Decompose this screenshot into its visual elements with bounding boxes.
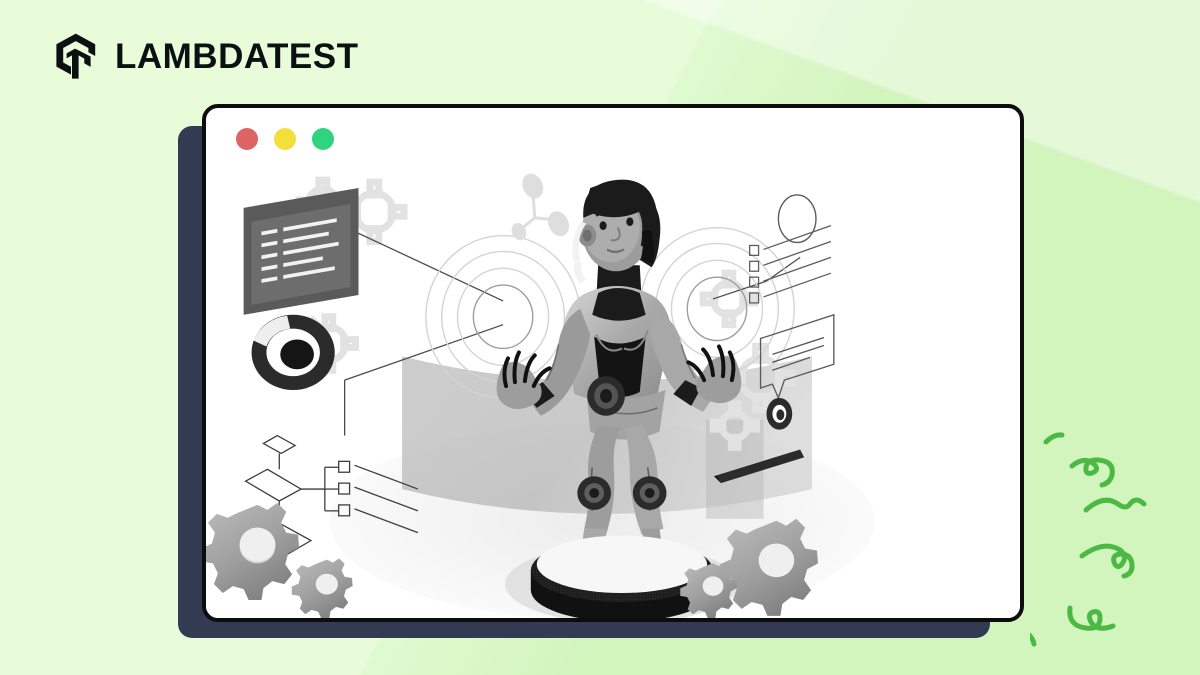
code-panel <box>244 188 359 315</box>
robot-eye-left <box>600 221 607 230</box>
browser-window <box>202 104 1024 622</box>
browser-titlebar <box>206 108 1020 170</box>
ai-robot-illustration <box>206 170 1020 618</box>
traffic-light-close-icon[interactable] <box>236 128 258 150</box>
browser-content-area <box>206 170 1020 618</box>
brand-name: LAMBDATEST <box>115 39 359 74</box>
node-dots <box>509 170 573 242</box>
ellipse-node <box>778 195 816 243</box>
traffic-light-maximize-icon[interactable] <box>312 128 334 150</box>
traffic-light-minimize-icon[interactable] <box>274 128 296 150</box>
page-root: LAMBDATEST <box>0 0 1200 675</box>
brand-lockup: LAMBDATEST <box>52 31 359 81</box>
robot-eye-right <box>626 217 633 226</box>
donut-target <box>252 315 335 390</box>
lambdatest-logo-icon <box>52 31 100 81</box>
bubble-dot-icon <box>766 398 792 430</box>
